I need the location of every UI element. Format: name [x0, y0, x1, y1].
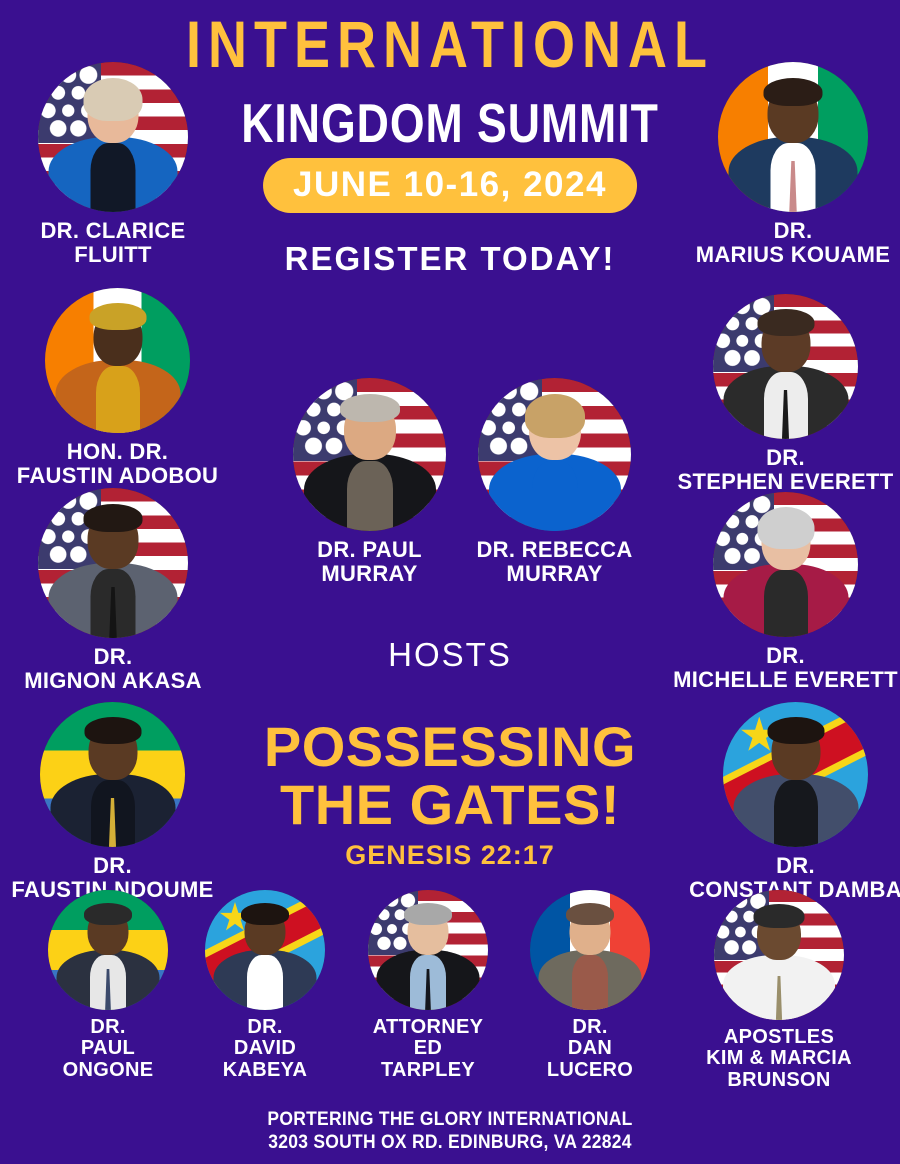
portrait-silhouette [723, 702, 868, 847]
portrait-silhouette [718, 62, 868, 212]
portrait-hair [241, 903, 289, 925]
portrait-silhouette [530, 890, 650, 1010]
speaker-photo [713, 294, 858, 439]
speaker-card[interactable]: HON. DR. FAUSTIN ADOBOU [0, 288, 235, 487]
speaker-photo [48, 890, 168, 1010]
portrait-hair [84, 717, 141, 744]
theme-scripture: GENESIS 22:17 [180, 840, 720, 871]
portrait-shirt [774, 780, 818, 847]
footer-organization: PORTERING THE GLORY INTERNATIONAL [36, 1109, 864, 1131]
portrait-hair [404, 903, 452, 925]
speaker-photo [293, 378, 446, 531]
portrait-hair [757, 507, 814, 549]
speaker-name: DR. REBECCA MURRAY [455, 538, 655, 585]
portrait-silhouette [478, 378, 631, 531]
portrait-silhouette [713, 294, 858, 439]
speaker-card[interactable]: DR. PAUL MURRAY [270, 378, 470, 585]
portrait-hair [340, 394, 400, 422]
speaker-card[interactable]: DR. STEPHEN EVERETT [668, 294, 900, 493]
event-date-badge: JUNE 10-16, 2024 [263, 158, 637, 213]
speaker-card[interactable]: ATTORNEY ED TARPLEY [346, 890, 511, 1081]
portrait-shirt [91, 143, 136, 212]
speaker-card[interactable]: DR. CONSTANT DAMBA [678, 702, 900, 901]
speaker-photo [718, 62, 868, 212]
speaker-photo [45, 288, 190, 433]
speaker-card[interactable]: DR. MARIUS KOUAME [678, 62, 900, 266]
portrait-silhouette [38, 488, 188, 638]
speaker-photo [478, 378, 631, 531]
portrait-hair [525, 394, 585, 438]
speaker-photo [205, 890, 325, 1010]
speaker-card[interactable]: DR. CLARICE FLUITT [0, 62, 228, 266]
speaker-photo [38, 488, 188, 638]
speaker-name: DR. PAUL ONGONE [26, 1017, 191, 1081]
theme-line-1: POSSESSING [180, 718, 720, 776]
portrait-shirt [532, 461, 578, 531]
speaker-card[interactable]: APOSTLES KIM & MARCIA BRUNSON [687, 890, 872, 1091]
portrait-silhouette [45, 288, 190, 433]
speaker-card[interactable]: DR. DAVID KABEYA [183, 890, 348, 1081]
portrait-silhouette [38, 62, 188, 212]
portrait-silhouette [713, 492, 858, 637]
portrait-silhouette [293, 378, 446, 531]
portrait-hair [84, 78, 143, 121]
portrait-shirt [572, 955, 608, 1010]
portrait-silhouette [40, 702, 185, 847]
speaker-name: DR. DAVID KABEYA [183, 1017, 348, 1081]
portrait-silhouette [714, 890, 844, 1020]
portrait-silhouette [48, 890, 168, 1010]
portrait-hair [764, 78, 823, 106]
portrait-hair [754, 904, 805, 928]
speaker-name: DR. CLARICE FLUITT [0, 219, 228, 266]
speaker-card[interactable]: DR. MIGNON AKASA [0, 488, 231, 692]
portrait-hair [566, 903, 614, 925]
portrait-shirt [347, 461, 393, 531]
theme-line-2: THE GATES! [180, 776, 720, 834]
portrait-hair [84, 504, 143, 532]
speaker-card[interactable]: DR. FAUSTIN NDOUME [0, 702, 230, 901]
portrait-hair [767, 717, 824, 744]
theme-block: POSSESSING THE GATES! GENESIS 22:17 [180, 718, 720, 871]
speaker-photo [723, 702, 868, 847]
speaker-card[interactable]: DR. MICHELLE EVERETT [668, 492, 900, 691]
speaker-photo [368, 890, 488, 1010]
speaker-name: DR. MARIUS KOUAME [678, 219, 900, 266]
portrait-silhouette [368, 890, 488, 1010]
event-date-text: JUNE 10-16, 2024 [293, 167, 607, 202]
speaker-card[interactable]: DR. REBECCA MURRAY [455, 378, 655, 585]
speaker-photo [530, 890, 650, 1010]
portrait-shirt [96, 366, 140, 433]
speaker-name: DR. MICHELLE EVERETT [668, 644, 900, 691]
speaker-name: HON. DR. FAUSTIN ADOBOU [0, 440, 235, 487]
portrait-shirt [764, 570, 808, 637]
speaker-name: DR. MIGNON AKASA [0, 645, 231, 692]
portrait-hair [84, 903, 132, 925]
speaker-card[interactable]: DR. PAUL ONGONE [26, 890, 191, 1081]
speaker-card[interactable]: DR. DAN LUCERO [508, 890, 673, 1081]
speaker-name: APOSTLES KIM & MARCIA BRUNSON [687, 1027, 872, 1091]
speaker-photo [714, 890, 844, 1020]
portrait-shirt [247, 955, 283, 1010]
portrait-hair [757, 309, 814, 336]
event-poster: INTERNATIONAL KINGDOM SUMMIT JUNE 10-16,… [0, 0, 900, 1164]
speaker-name: DR. PAUL MURRAY [270, 538, 470, 585]
speaker-photo [38, 62, 188, 212]
speaker-name: DR. STEPHEN EVERETT [668, 446, 900, 493]
footer-block: PORTERING THE GLORY INTERNATIONAL 3203 S… [36, 1109, 864, 1154]
speaker-name: DR. DAN LUCERO [508, 1017, 673, 1081]
speaker-photo [713, 492, 858, 637]
portrait-silhouette [205, 890, 325, 1010]
speaker-photo [40, 702, 185, 847]
speaker-name: ATTORNEY ED TARPLEY [346, 1017, 511, 1081]
portrait-hair [89, 303, 146, 330]
footer-address: 3203 SOUTH OX RD. EDINBURG, VA 22824 [36, 1132, 864, 1154]
